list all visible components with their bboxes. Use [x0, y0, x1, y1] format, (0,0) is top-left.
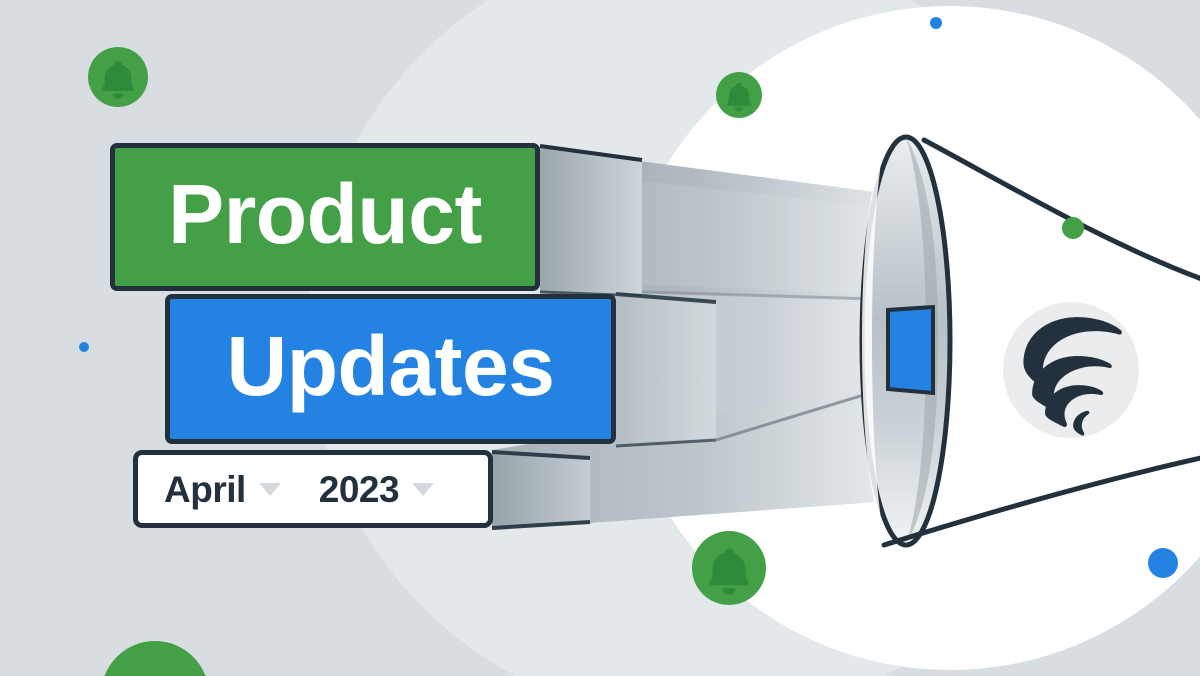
blue-dot-left	[79, 342, 89, 352]
date-box-extrusion	[492, 452, 590, 528]
green-dot-megaphone	[1062, 217, 1084, 239]
bell-badge-bottom-center	[692, 531, 766, 605]
megaphone-blue-accent	[888, 307, 933, 393]
month-dropdown[interactable]: April	[164, 471, 281, 508]
product-box-extrusion	[540, 146, 642, 296]
product-updates-banner: Product Updates April 2023	[0, 0, 1200, 676]
date-spacer	[281, 489, 319, 490]
product-label-box: Product	[110, 143, 540, 291]
blue-circle-bottom-right	[1148, 548, 1178, 578]
bell-badge-top-center	[716, 72, 762, 118]
year-dropdown[interactable]: 2023	[319, 471, 434, 508]
updates-label-box: Updates	[165, 294, 616, 444]
bell-badge-top-left	[88, 47, 148, 107]
updates-label-text: Updates	[227, 324, 555, 408]
year-value: 2023	[319, 471, 399, 508]
date-selector-box: April 2023	[133, 450, 493, 528]
wrike-swoosh-logo	[1003, 302, 1139, 438]
chevron-down-icon[interactable]	[259, 483, 281, 496]
updates-box-extrusion	[616, 294, 716, 446]
blue-dot-top	[930, 17, 942, 29]
product-label-text: Product	[168, 172, 482, 256]
chevron-down-icon[interactable]	[412, 483, 434, 496]
month-value: April	[164, 471, 246, 508]
